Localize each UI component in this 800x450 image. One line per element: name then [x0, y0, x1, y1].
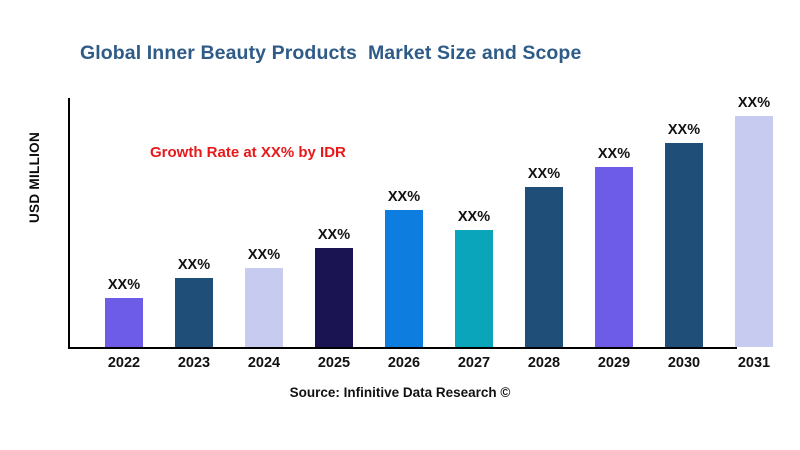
bar-2027: XX%: [455, 230, 493, 347]
bar-2022: XX%: [105, 298, 143, 347]
bar-2024: XX%: [245, 268, 283, 347]
bar-2031: XX%: [735, 116, 773, 347]
bar-value-label-2026: XX%: [388, 189, 420, 205]
bar-value-label-2031: XX%: [738, 95, 770, 111]
x-tick-label-2026: 2026: [369, 355, 439, 371]
bar-value-label-2029: XX%: [598, 146, 630, 162]
bar-value-label-2028: XX%: [528, 166, 560, 182]
x-tick-label-2031: 2031: [719, 355, 789, 371]
bar-value-label-2025: XX%: [318, 227, 350, 243]
chart-title: Global Inner Beauty Products Market Size…: [80, 42, 581, 65]
x-tick-label-2025: 2025: [299, 355, 369, 371]
bar-value-label-2024: XX%: [248, 247, 280, 263]
y-axis-line: [68, 98, 70, 349]
bar-2026: XX%: [385, 210, 423, 347]
bar-2023: XX%: [175, 278, 213, 347]
x-tick-label-2029: 2029: [579, 355, 649, 371]
x-tick-label-2024: 2024: [229, 355, 299, 371]
plot-area: XX%XX%XX%XX%XX%XX%XX%XX%XX%XX%: [68, 98, 782, 349]
growth-rate-annotation: Growth Rate at XX% by IDR: [150, 144, 346, 161]
x-tick-label-2023: 2023: [159, 355, 229, 371]
bar-value-label-2022: XX%: [108, 277, 140, 293]
bar-2028: XX%: [525, 187, 563, 347]
bar-2030: XX%: [665, 143, 703, 347]
bar-value-label-2027: XX%: [458, 209, 490, 225]
x-tick-label-2022: 2022: [89, 355, 159, 371]
bar-value-label-2030: XX%: [668, 122, 700, 138]
source-caption: Source: Infinitive Data Research ©: [0, 385, 800, 400]
bar-2025: XX%: [315, 248, 353, 347]
x-axis-line: [68, 347, 737, 349]
bar-2029: XX%: [595, 167, 633, 347]
y-axis-label-wrap: USD MILLION: [22, 98, 48, 349]
x-tick-label-2030: 2030: [649, 355, 719, 371]
x-tick-label-2027: 2027: [439, 355, 509, 371]
bar-chart: Global Inner Beauty Products Market Size…: [0, 0, 800, 450]
y-axis-label: USD MILLION: [28, 132, 43, 223]
bar-value-label-2023: XX%: [178, 257, 210, 273]
x-tick-label-2028: 2028: [509, 355, 579, 371]
